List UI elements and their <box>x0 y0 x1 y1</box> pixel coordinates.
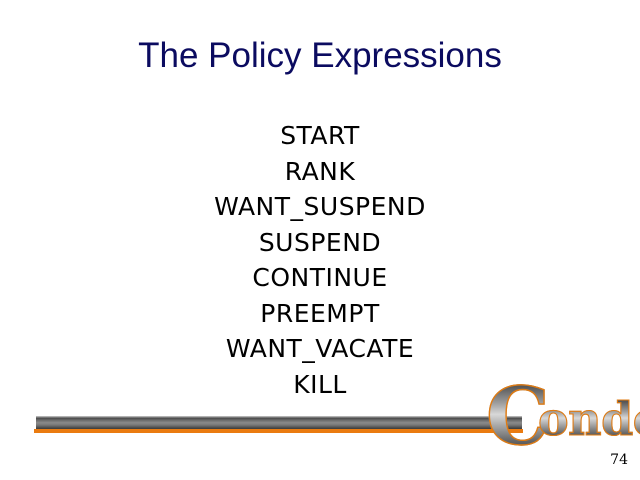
list-item: WANT_VACATE <box>0 331 640 367</box>
page-number: 74 <box>610 452 628 468</box>
footer-divider-bar <box>36 416 522 431</box>
divider-bar-accent-line <box>34 429 523 433</box>
list-item: PREEMPT <box>0 296 640 332</box>
policy-expression-list: START RANK WANT_SUSPEND SUSPEND CONTINUE… <box>0 118 640 402</box>
list-item: WANT_SUSPEND <box>0 189 640 225</box>
page-title: The Policy Expressions <box>0 36 640 76</box>
divider-bar-body <box>36 416 522 429</box>
condor-logo-text: ondor <box>538 396 640 442</box>
list-item: CONTINUE <box>0 260 640 296</box>
list-item: START <box>0 118 640 154</box>
list-item: SUSPEND <box>0 225 640 261</box>
condor-logo: C ondor <box>486 382 640 448</box>
slide-canvas: The Policy Expressions START RANK WANT_S… <box>0 0 640 480</box>
list-item: RANK <box>0 154 640 190</box>
